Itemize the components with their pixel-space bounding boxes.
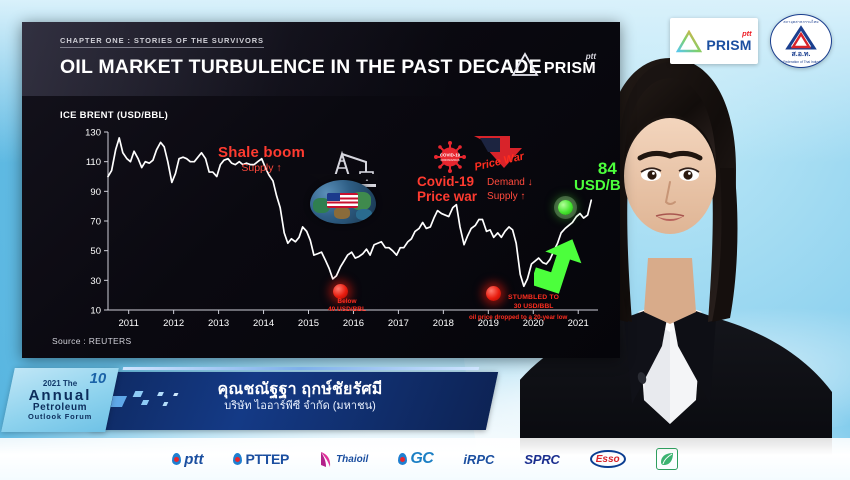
x-axis-tick: 2012 [163,318,184,329]
marker-2020-low [486,286,501,301]
seal-triangle-icon [784,25,818,51]
prism-name-label: PRISM [706,38,751,52]
lower-third-banner: คุณชณัฐฐา ฤกษ์ชัยรัศมี บริษัท ไออาร์พีซี… [0,366,500,438]
sponsor-thaioil: Thaioil [319,451,368,468]
sponsor-sprc-label: SPRC [524,452,559,467]
prism-triangle-icon [676,30,702,53]
sponsor-bangchak [656,448,678,470]
flag-canton [327,193,340,201]
speaker-info: คุณชณัฐฐา ฤกษ์ชัยรัศมี บริษัท ไออาร์พีซี… [150,380,450,414]
sponsor-esso-label: Esso [596,454,620,465]
sponsor-esso: Esso [590,450,626,468]
x-axis-tick: 2016 [343,318,364,329]
chart-source-label: Source : REUTERS [52,336,131,346]
presentation-slide: CHAPTER ONE : STORIES OF THE SURVIVORS O… [22,22,620,358]
svg-text:CORONAVIRUS: CORONAVIRUS [440,158,459,162]
sponsor-gc: GC [398,450,433,468]
globe-illustration [310,180,376,224]
marker-current-price [558,200,573,215]
x-axis-tick: 2020 [523,318,544,329]
event-ordinal: 10 [90,370,107,387]
y-axis-tick: 90 [90,187,101,198]
fti-seal-logo: สภาอุตสาหกรรมไทย ส.อ.ท. The Federation o… [770,14,832,68]
sponsor-logo-strip: ptt PTTEP Thaioil GC iRPC SPRC Esso [0,438,850,480]
speaker-name: คุณชณัฐฐา ฤกษ์ชัยรัศมี [150,380,450,399]
x-axis-tick: 2017 [388,318,409,329]
event-line-1: Annual [28,388,92,403]
y-axis-tick: 130 [85,128,101,139]
globe-landmass [334,207,350,218]
slide-prism-triangle-icon [511,52,539,77]
sponsor-ptt: ptt [172,451,203,468]
y-axis-tick: 110 [86,157,101,168]
chart-axis-title: ICE BRENT (USD/BBL) [60,110,168,121]
x-axis-tick: 2018 [433,318,454,329]
slide-chapter-label: CHAPTER ONE : STORIES OF THE SURVIVORS [60,36,264,48]
bangchak-leaf-icon [656,448,678,470]
leaf-glyph [659,451,675,467]
globe-landmass [356,209,372,220]
x-axis-tick: 2011 [118,318,138,329]
sponsor-pttep-label: PTTEP [245,451,289,467]
slide-prism-logo: ptt PRISM [511,52,596,77]
us-flag-icon [327,193,357,208]
sponsor-thaioil-label: Thaioil [336,454,368,465]
pttep-flame-icon [233,453,242,465]
y-axis-tick: 10 [90,306,101,317]
sponsor-gc-label: GC [410,450,433,468]
y-axis-tick: 70 [90,217,101,228]
svg-text:COVID-19: COVID-19 [440,153,461,158]
x-axis-tick: 2014 [253,318,274,329]
event-line-3: Outlook Forum [28,413,92,421]
sponsor-ptt-label: ptt [184,451,203,468]
ptt-flame-icon [172,453,181,465]
slide-prism-name-label: PRISM [544,61,596,77]
esso-oval-icon: Esso [590,450,626,468]
sponsor-sprc: SPRC [524,452,559,467]
sponsor-pttep: PTTEP [233,451,289,467]
event-logo: 10 2021 The Annual Petroleum Outlook For… [1,368,119,432]
x-axis-tick: 2019 [478,318,499,329]
sponsor-irpc-label: iRPC [463,452,494,467]
x-axis-tick: 2013 [208,318,229,329]
x-axis-tick: 2015 [298,318,319,329]
y-axis-tick: 30 [90,276,101,287]
seal-bottom-text: The Federation of Thai Industries [777,60,826,64]
ptt-prism-logo: ptt PRISM [670,18,758,64]
slide-title: OIL MARKET TURBULENCE IN THE PAST DECADE [60,56,542,79]
marker-2016-low [333,284,348,299]
thaioil-mark-icon [319,451,333,468]
seal-abbr-label: ส.อ.ท. [792,49,811,60]
y-axis-tick: 50 [90,246,101,257]
coronavirus-icon: COVID-19 CORONAVIRUS [433,140,467,174]
speaker-organization: บริษัท ไออาร์พีซี จำกัด (มหาชน) [150,399,450,414]
gc-flame-icon [398,453,407,465]
upward-trend-arrow-icon [534,234,582,294]
x-axis-tick: 2021 [568,318,589,329]
sponsor-irpc: iRPC [463,452,494,467]
